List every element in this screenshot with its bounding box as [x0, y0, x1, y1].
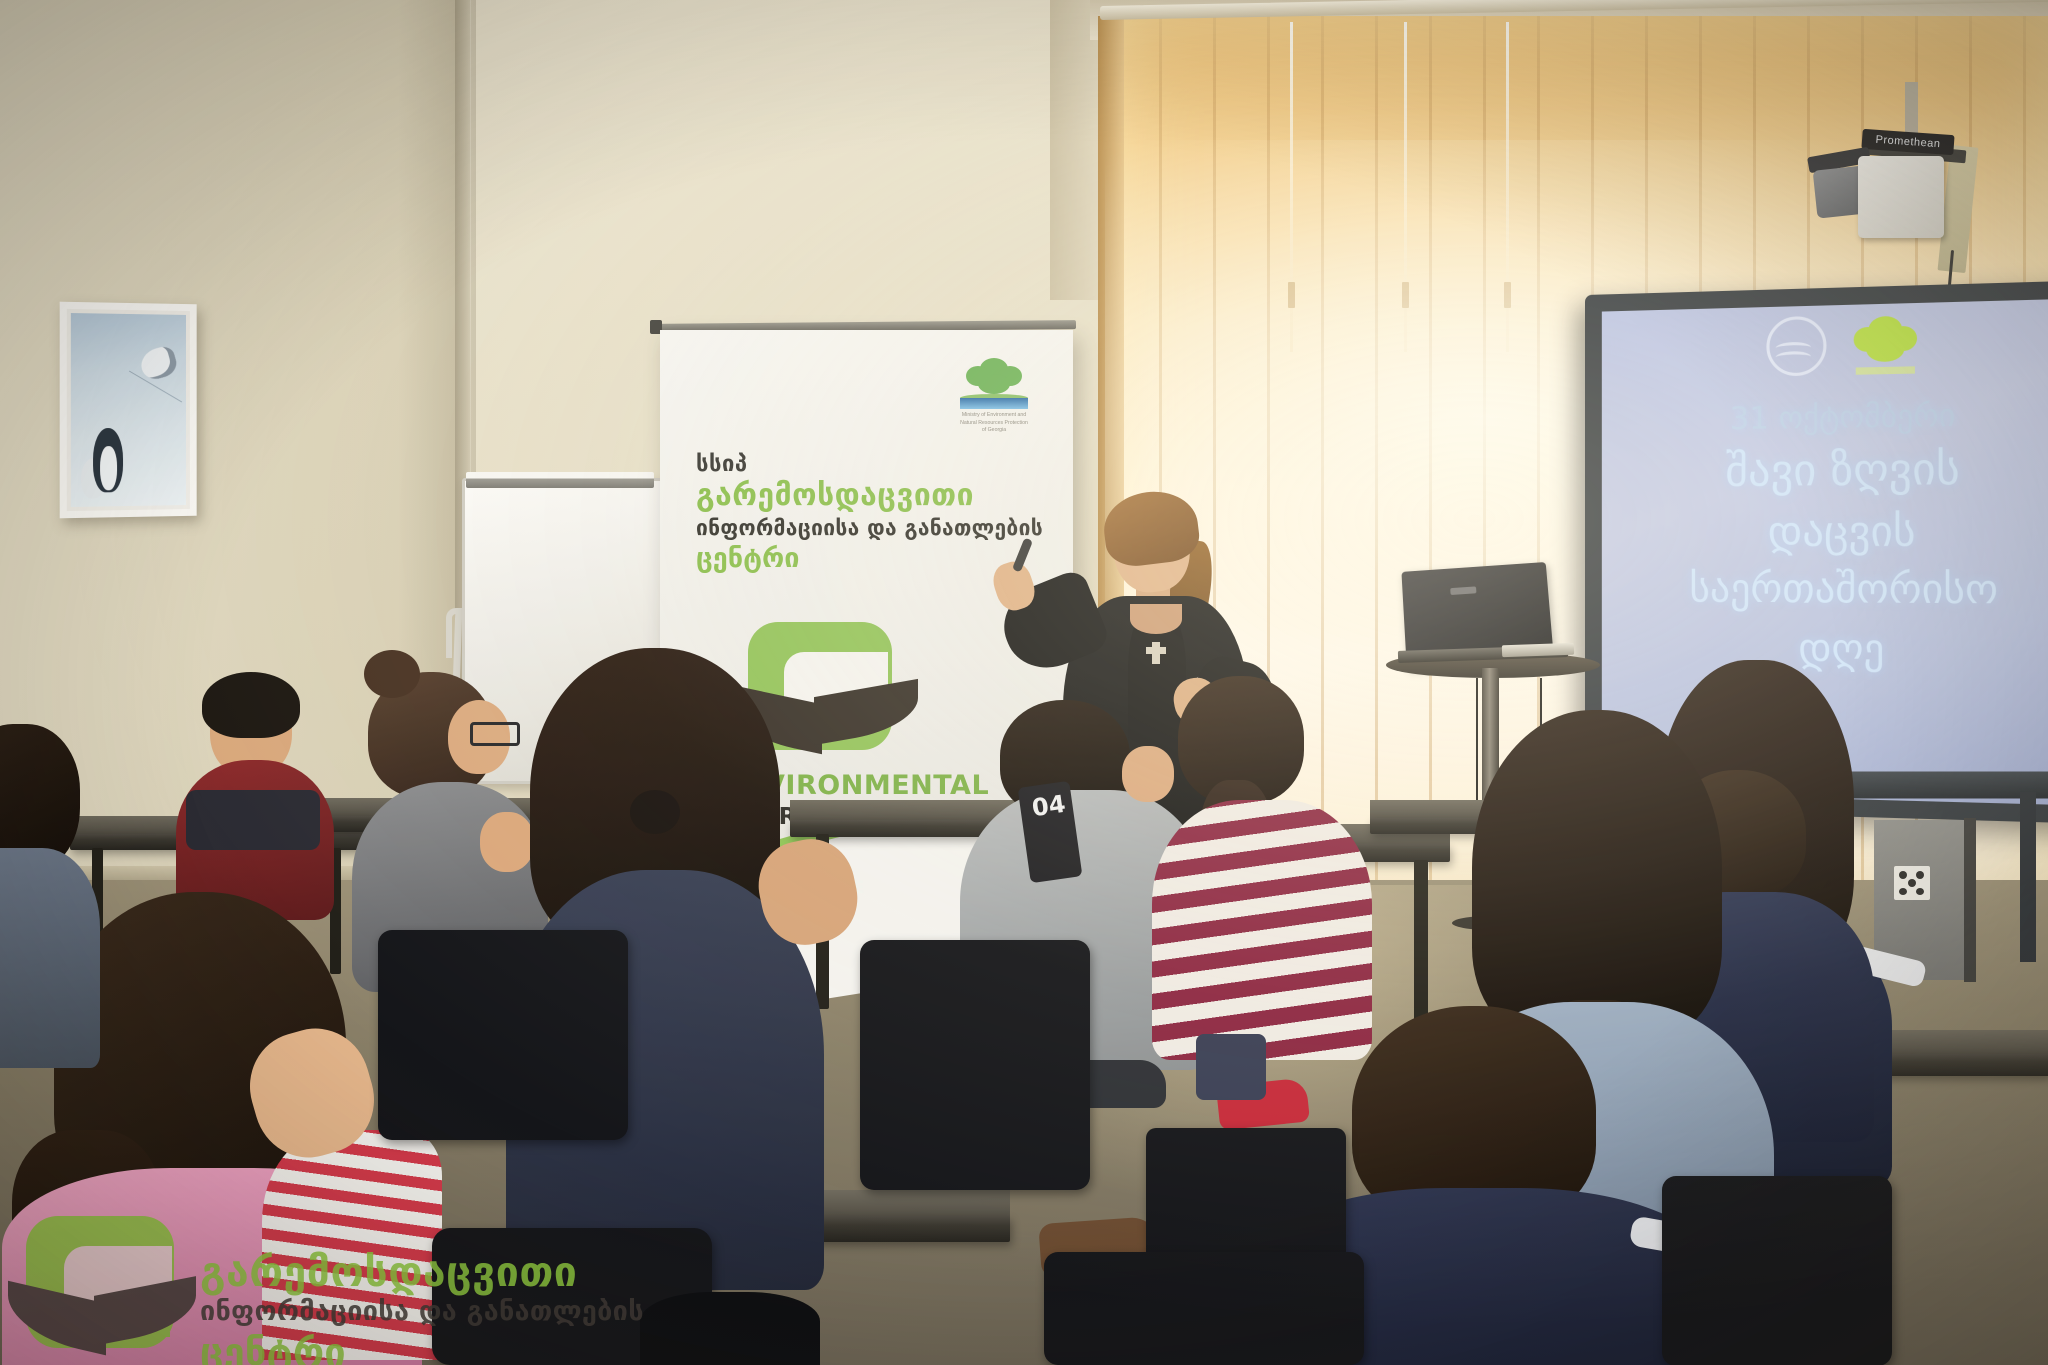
hand: [1122, 746, 1174, 802]
paper-clamp[interactable]: [466, 472, 654, 488]
hand: [480, 812, 534, 872]
earbud-icon: [630, 790, 680, 834]
ministry-logo: Ministry of Environment and Natural Reso…: [958, 358, 1030, 436]
banner-org-prefix: სსიპ: [696, 452, 748, 477]
blind-chain[interactable]: [1506, 22, 1509, 352]
eiec-watermark: გარემოსდაცვითი ინფორმაციისა და განათლები…: [14, 1216, 654, 1358]
power-socket[interactable]: [1894, 866, 1930, 900]
ministry-caption: Ministry of Environment and Natural Reso…: [958, 412, 1030, 435]
kite-icon: [137, 344, 179, 382]
black-sea-icon: [1766, 316, 1826, 377]
banner-line-green-2: ცენტრი: [696, 543, 799, 574]
slide-title-2: დაცვის: [1602, 505, 2048, 556]
chair-wheel-base: [640, 1292, 820, 1365]
classroom-photo: Ministry of Environment and Natural Reso…: [0, 0, 2048, 1365]
watermark-line-1: გარემოსდაცვითი: [200, 1248, 577, 1296]
blind-chain[interactable]: [1290, 22, 1293, 352]
watermark-logo-mark: [26, 1216, 174, 1354]
chair[interactable]: [1662, 1176, 1892, 1365]
banner-line-dark: ინფორმაციისა და განათლების: [696, 516, 1043, 540]
cross-necklace-icon: [1152, 642, 1160, 664]
eiec-logo-mark: [748, 622, 892, 750]
podium-papers: [1502, 643, 1574, 658]
penguin-icon: [93, 428, 123, 492]
slide-date: 31 ოქტომბერი: [1602, 395, 2048, 438]
chair[interactable]: [378, 930, 628, 1140]
chair[interactable]: [860, 940, 1090, 1190]
watermark-line-3: ცენტრი: [200, 1330, 346, 1365]
presenter-neckline: [1130, 604, 1182, 634]
tree-icon: [1854, 315, 1917, 374]
slide-title-1: შავი ზღვის: [1602, 442, 2048, 498]
slide-title-3: საერთაშორისო: [1602, 566, 2048, 614]
laptop-logo: [1450, 586, 1476, 595]
slide-title-4: დღე: [1602, 624, 2048, 676]
water-band: [960, 398, 1028, 409]
poster-artwork: [71, 313, 186, 507]
blind-chain[interactable]: [1404, 22, 1407, 352]
trouser-leg: [1196, 1034, 1266, 1100]
eyeglasses-icon: [470, 722, 520, 746]
banner-line-green-1: გარემოსდაცვითი: [696, 478, 974, 513]
watermark-line-2: ინფორმაციისა და განათლების: [200, 1296, 644, 1327]
slide-logo-row: [1766, 313, 1917, 376]
projector-body: [1858, 156, 1944, 238]
av-panel-edge: [1964, 818, 1976, 982]
chair[interactable]: [1044, 1252, 1364, 1365]
whiteboard-stand-right: [2020, 792, 2036, 962]
hoodie-number: 04: [1030, 790, 1067, 822]
framed-penguin-poster: [60, 302, 197, 519]
